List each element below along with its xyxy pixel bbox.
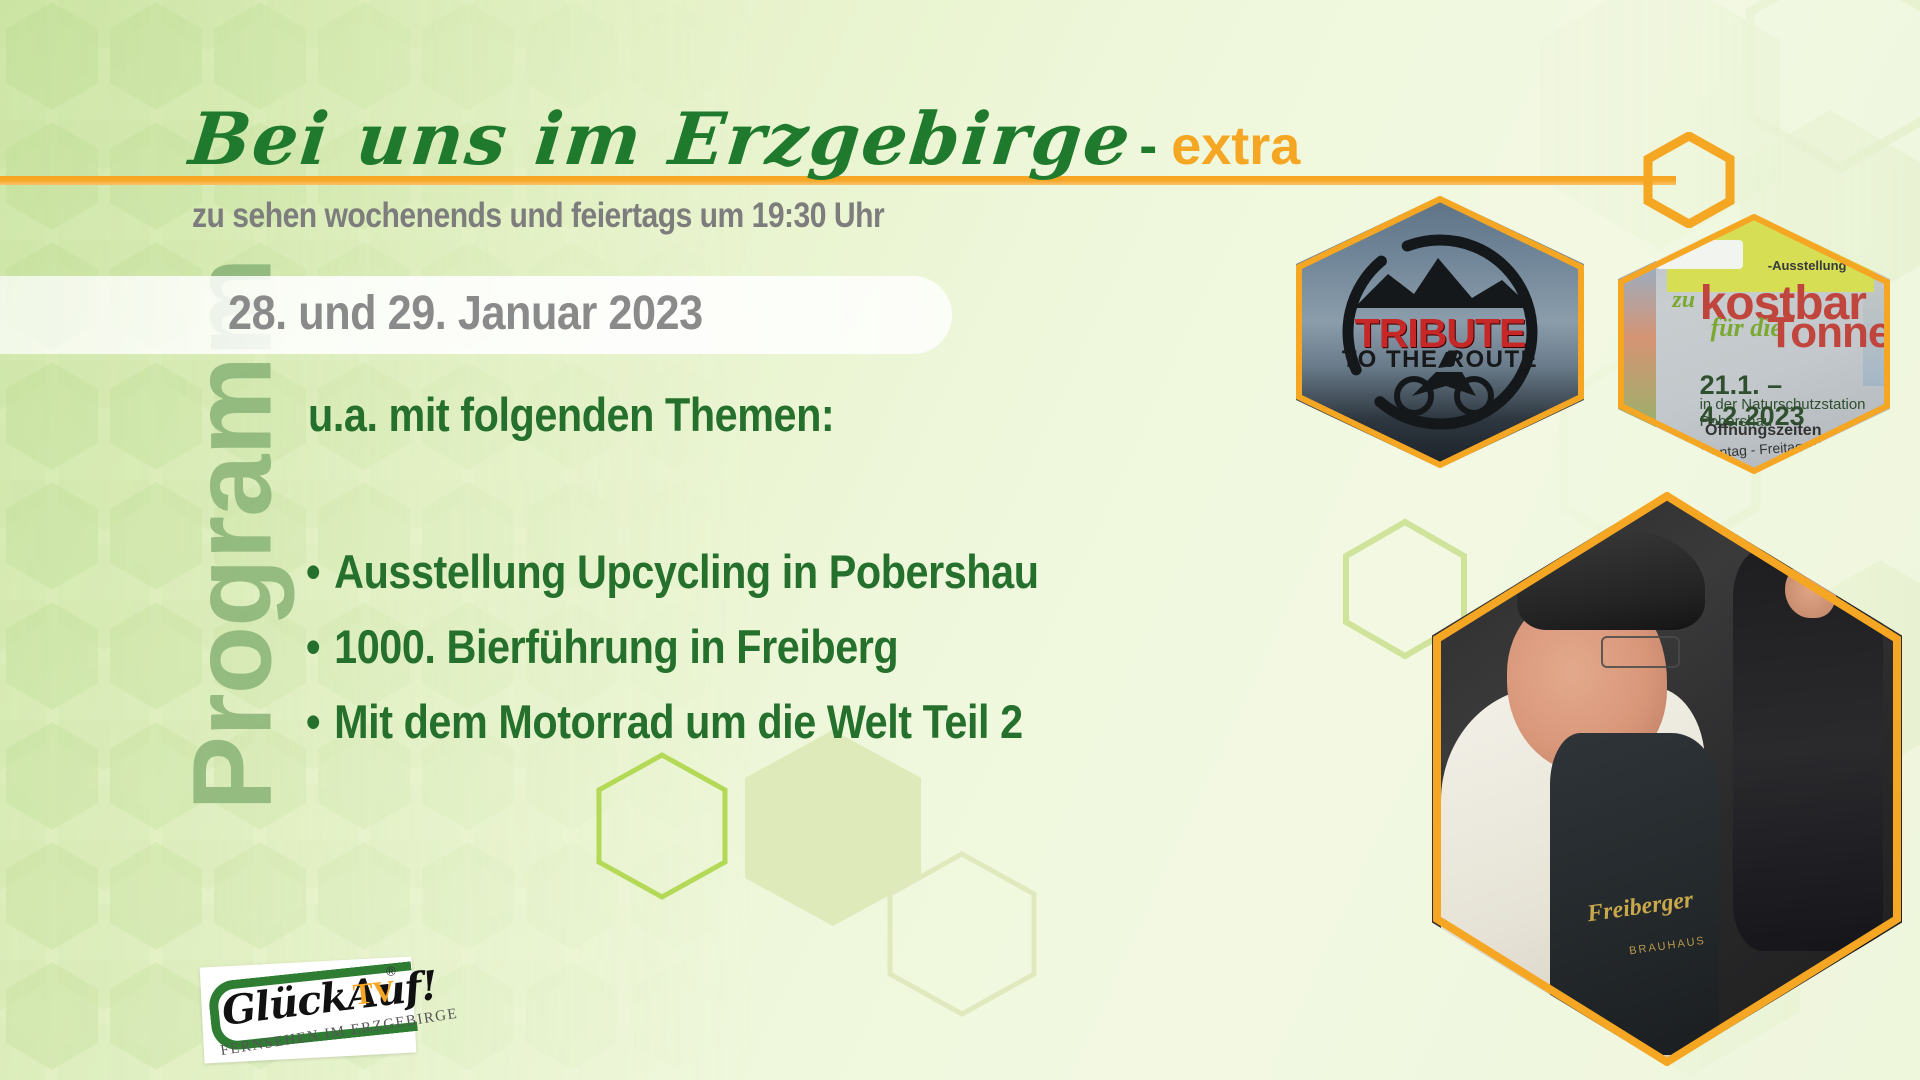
page-title: Bei uns im Erzgebirge-extra: [186, 96, 1306, 181]
list-item: •1000. Bierführung in Freiberg: [306, 609, 1039, 684]
page-title-main: Bei uns im Erzgebirge: [186, 96, 1137, 181]
bullet-icon: •: [306, 609, 334, 684]
list-item: •Ausstellung Upcycling in Pobershau: [306, 534, 1039, 609]
decorative-hexagon-outline-bright: [592, 750, 732, 902]
poster-white-patch: [1656, 240, 1743, 269]
poster-word-zu: zu: [1672, 287, 1695, 314]
broadcast-subtitle: zu sehen wochenends und feiertags um 19:…: [192, 196, 884, 236]
bullet-icon: •: [306, 684, 334, 759]
poster-left-collage: [1618, 245, 1656, 432]
hex-image-brewmaster-photo: Freiberger BRAUHAUS: [1432, 492, 1902, 1066]
broadcast-date: 28. und 29. Januar 2023: [228, 286, 703, 341]
program-slide: Programm Bei uns im Erzgebirge-extra zu …: [0, 0, 1920, 1080]
photo-hand-with-microphone: [1785, 561, 1837, 618]
poster-ausstellung-label: -Ausstellung: [1768, 258, 1847, 273]
topics-heading: u.a. mit folgenden Themen:: [308, 387, 834, 442]
hex-image-tribute-to-the-route: TRIBUTE TO THE ROUTE: [1296, 196, 1584, 468]
topics-list: •Ausstellung Upcycling in Pobershau •100…: [306, 534, 1138, 759]
page-title-dash: -: [1139, 115, 1159, 177]
glueckauf-tv-logo[interactable]: GlückAuf! TV ® FERNSEHEN IM ERZGEBIRGE: [200, 957, 417, 1064]
topic-label: Mit dem Motorrad um die Welt Teil 2: [334, 695, 1023, 748]
page-title-accent: extra: [1171, 115, 1300, 177]
list-item: •Mit dem Motorrad um die Welt Teil 2: [306, 684, 1039, 759]
topic-label: 1000. Bierführung in Freiberg: [334, 620, 898, 673]
glasses-icon: [1601, 636, 1680, 669]
topic-label: Ausstellung Upcycling in Pobershau: [334, 545, 1038, 598]
logo-tv-suffix: TV: [352, 974, 397, 1012]
bullet-icon: •: [306, 534, 334, 609]
hex-clip: Freiberger BRAUHAUS: [1432, 492, 1902, 1066]
decorative-hexagon-outline-faint: [884, 850, 1040, 1018]
registered-trademark-icon: ®: [386, 963, 396, 978]
tribute-subtitle: TO THE ROUTE: [1296, 346, 1584, 374]
hex-clip: TRIBUTE TO THE ROUTE: [1296, 196, 1584, 468]
poster-word-tonne: Tonne: [1768, 308, 1890, 358]
hex-clip: -Ausstellung zu kostbar für die Tonne 21…: [1618, 214, 1890, 474]
hex-image-kostbar-poster: -Ausstellung zu kostbar für die Tonne 21…: [1618, 214, 1890, 474]
